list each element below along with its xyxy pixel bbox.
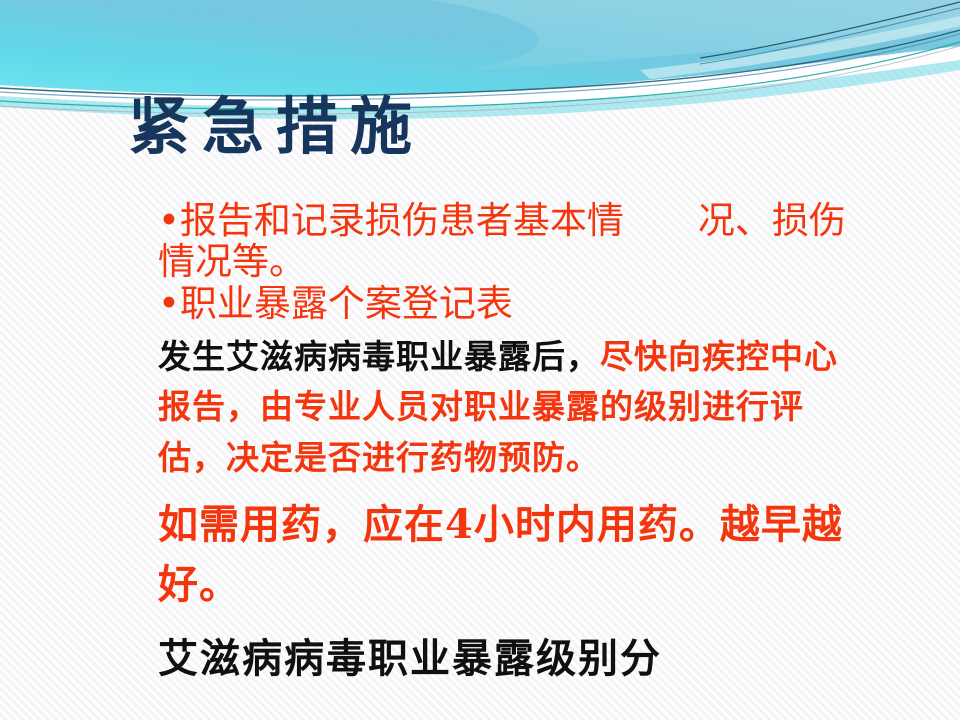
bullet-text: 报告和记录损伤患者基本情 况、损伤情况等。 bbox=[158, 199, 846, 283]
bullet-marker: • bbox=[158, 199, 180, 242]
bullet-marker: • bbox=[158, 282, 180, 325]
paragraph-black-part: 发生艾滋病病毒职业暴露后， bbox=[158, 337, 600, 376]
wave-line-topright-2 bbox=[700, 8, 960, 64]
bullet-item: •职业暴露个案登记表 bbox=[158, 283, 858, 324]
wave-band-main bbox=[0, 0, 960, 95]
timing-emphasis: 如需用药，应在4小时内用药。越早越好。 bbox=[158, 483, 858, 615]
wave-line-dark-1 bbox=[0, 30, 960, 96]
procedure-paragraph: 发生艾滋病病毒职业暴露后，尽快向疾控中心报告，由专业人员对职业暴露的级别进行评估… bbox=[158, 324, 858, 482]
slide-body: •报告和记录损伤患者基本情 况、损伤情况等。 •职业暴露个案登记表 发生艾滋病病… bbox=[158, 200, 858, 685]
wave-line-topright-1 bbox=[700, 2, 960, 58]
wave-band-upper-right bbox=[430, 0, 960, 70]
slide-canvas: 紧急措施 •报告和记录损伤患者基本情 况、损伤情况等。 •职业暴露个案登记表 发… bbox=[0, 0, 960, 720]
wave-band-right-taper bbox=[640, 16, 960, 79]
exposure-grade-heading: 艾滋病病毒职业暴露级别分 bbox=[158, 615, 858, 685]
bullet-text: 职业暴露个案登记表 bbox=[180, 282, 513, 325]
bullet-item: •报告和记录损伤患者基本情 况、损伤情况等。 bbox=[158, 200, 858, 283]
slide-title: 紧急措施 bbox=[128, 96, 828, 158]
